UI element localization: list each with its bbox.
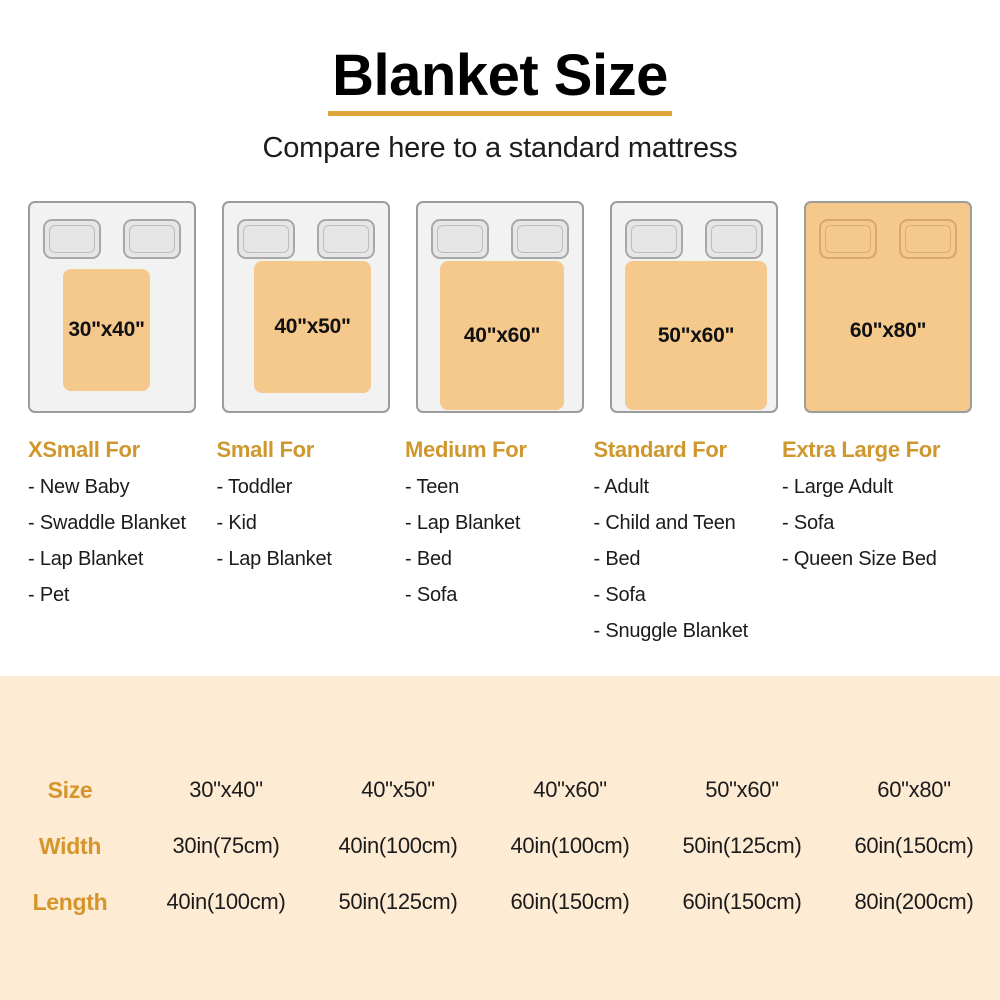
category-standard: Standard For - Adult - Child and Teen - … xyxy=(594,437,780,657)
pillow-icon xyxy=(899,219,957,259)
pillow-icon xyxy=(819,219,877,259)
bed-diagram-row: 30"x40" 40"x50" 40"x60" 50"x60" xyxy=(0,201,1000,419)
bed-diagram-small: 40"x50" xyxy=(222,201,390,419)
pillow-icon xyxy=(431,219,489,259)
category-title: Small For xyxy=(217,437,403,463)
table-cell: 30in(75cm) xyxy=(140,818,312,874)
table-cell: 40"x50" xyxy=(312,762,484,818)
row-label-width: Width xyxy=(0,818,140,874)
blanket-size-label: 30"x40" xyxy=(68,318,144,342)
list-item: - Large Adult xyxy=(782,477,972,497)
category-medium: Medium For - Teen - Lap Blanket - Bed - … xyxy=(405,437,591,657)
category-extra-large: Extra Large For - Large Adult - Sofa - Q… xyxy=(782,437,972,657)
category-row: XSmall For - New Baby - Swaddle Blanket … xyxy=(0,437,1000,657)
list-item: - Lap Blanket xyxy=(28,549,214,569)
mattress-xsmall: 30"x40" xyxy=(28,201,196,413)
category-title: Standard For xyxy=(594,437,780,463)
category-list: - Adult - Child and Teen - Bed - Sofa - … xyxy=(594,477,780,641)
list-item: - Bed xyxy=(594,549,780,569)
pillow-icon xyxy=(237,219,295,259)
list-item: - Lap Blanket xyxy=(405,513,591,533)
blanket-swatch-standard: 50"x60" xyxy=(625,261,767,410)
category-list: - Large Adult - Sofa - Queen Size Bed xyxy=(782,477,972,569)
category-list: - New Baby - Swaddle Blanket - Lap Blank… xyxy=(28,477,214,605)
blanket-swatch-medium: 40"x60" xyxy=(440,261,564,410)
row-label-size: Size xyxy=(0,762,140,818)
list-item: - Teen xyxy=(405,477,591,497)
list-item: - Child and Teen xyxy=(594,513,780,533)
table-row: Length 40in(100cm) 50in(125cm) 60in(150c… xyxy=(0,874,1000,930)
list-item: - Toddler xyxy=(217,477,403,497)
table-cell: 60in(150cm) xyxy=(656,874,828,930)
table-cell: 40in(100cm) xyxy=(140,874,312,930)
list-item: - Sofa xyxy=(405,585,591,605)
category-title: Medium For xyxy=(405,437,591,463)
page-title: Blanket Size xyxy=(328,46,672,116)
bed-diagram-xsmall: 30"x40" xyxy=(28,201,196,419)
category-title: XSmall For xyxy=(28,437,214,463)
category-small: Small For - Toddler - Kid - Lap Blanket xyxy=(217,437,403,657)
blanket-size-label: 50"x60" xyxy=(658,324,734,348)
pillow-icon xyxy=(625,219,683,259)
blanket-swatch-xsmall: 30"x40" xyxy=(63,269,150,391)
table-cell: 40in(100cm) xyxy=(484,818,656,874)
blanket-swatch-small: 40"x50" xyxy=(254,261,371,393)
pillow-icon xyxy=(705,219,763,259)
category-list: - Toddler - Kid - Lap Blanket xyxy=(217,477,403,569)
table-row: Width 30in(75cm) 40in(100cm) 40in(100cm)… xyxy=(0,818,1000,874)
table-cell: 30"x40" xyxy=(140,762,312,818)
table-cell: 60in(150cm) xyxy=(828,818,1000,874)
bed-diagram-extra-large: 60"x80" xyxy=(804,201,972,419)
blanket-size-label: 40"x60" xyxy=(464,324,540,348)
list-item: - Sofa xyxy=(782,513,972,533)
mattress-small: 40"x50" xyxy=(222,201,390,413)
mattress-standard: 50"x60" xyxy=(610,201,778,413)
pillow-icon xyxy=(317,219,375,259)
spec-table: Size 30"x40" 40"x50" 40"x60" 50"x60" 60"… xyxy=(0,762,1000,930)
list-item: - Queen Size Bed xyxy=(782,549,972,569)
category-list: - Teen - Lap Blanket - Bed - Sofa xyxy=(405,477,591,605)
list-item: - Snuggle Blanket xyxy=(594,621,780,641)
list-item: - Pet xyxy=(28,585,214,605)
blanket-size-label: 60"x80" xyxy=(806,319,970,343)
mattress-medium: 40"x60" xyxy=(416,201,584,413)
list-item: - Bed xyxy=(405,549,591,569)
spec-band: Size 30"x40" 40"x50" 40"x60" 50"x60" 60"… xyxy=(0,676,1000,1000)
pillow-icon xyxy=(511,219,569,259)
list-item: - New Baby xyxy=(28,477,214,497)
table-cell: 40in(100cm) xyxy=(312,818,484,874)
table-cell: 80in(200cm) xyxy=(828,874,1000,930)
pillow-icon xyxy=(123,219,181,259)
row-label-length: Length xyxy=(0,874,140,930)
pillow-icon xyxy=(43,219,101,259)
bed-diagram-standard: 50"x60" xyxy=(610,201,778,419)
list-item: - Kid xyxy=(217,513,403,533)
table-cell: 50in(125cm) xyxy=(312,874,484,930)
table-cell: 50"x60" xyxy=(656,762,828,818)
table-cell: 50in(125cm) xyxy=(656,818,828,874)
header: Blanket Size Compare here to a standard … xyxy=(0,0,1000,165)
category-title: Extra Large For xyxy=(782,437,972,463)
bed-diagram-medium: 40"x60" xyxy=(416,201,584,419)
list-item: - Lap Blanket xyxy=(217,549,403,569)
table-cell: 40"x60" xyxy=(484,762,656,818)
list-item: - Sofa xyxy=(594,585,780,605)
mattress-extra-large: 60"x80" xyxy=(804,201,972,413)
list-item: - Adult xyxy=(594,477,780,497)
page-subtitle: Compare here to a standard mattress xyxy=(0,132,1000,165)
blanket-size-label: 40"x50" xyxy=(274,315,350,339)
table-cell: 60"x80" xyxy=(828,762,1000,818)
table-row: Size 30"x40" 40"x50" 40"x60" 50"x60" 60"… xyxy=(0,762,1000,818)
list-item: - Swaddle Blanket xyxy=(28,513,214,533)
category-xsmall: XSmall For - New Baby - Swaddle Blanket … xyxy=(28,437,214,657)
table-cell: 60in(150cm) xyxy=(484,874,656,930)
